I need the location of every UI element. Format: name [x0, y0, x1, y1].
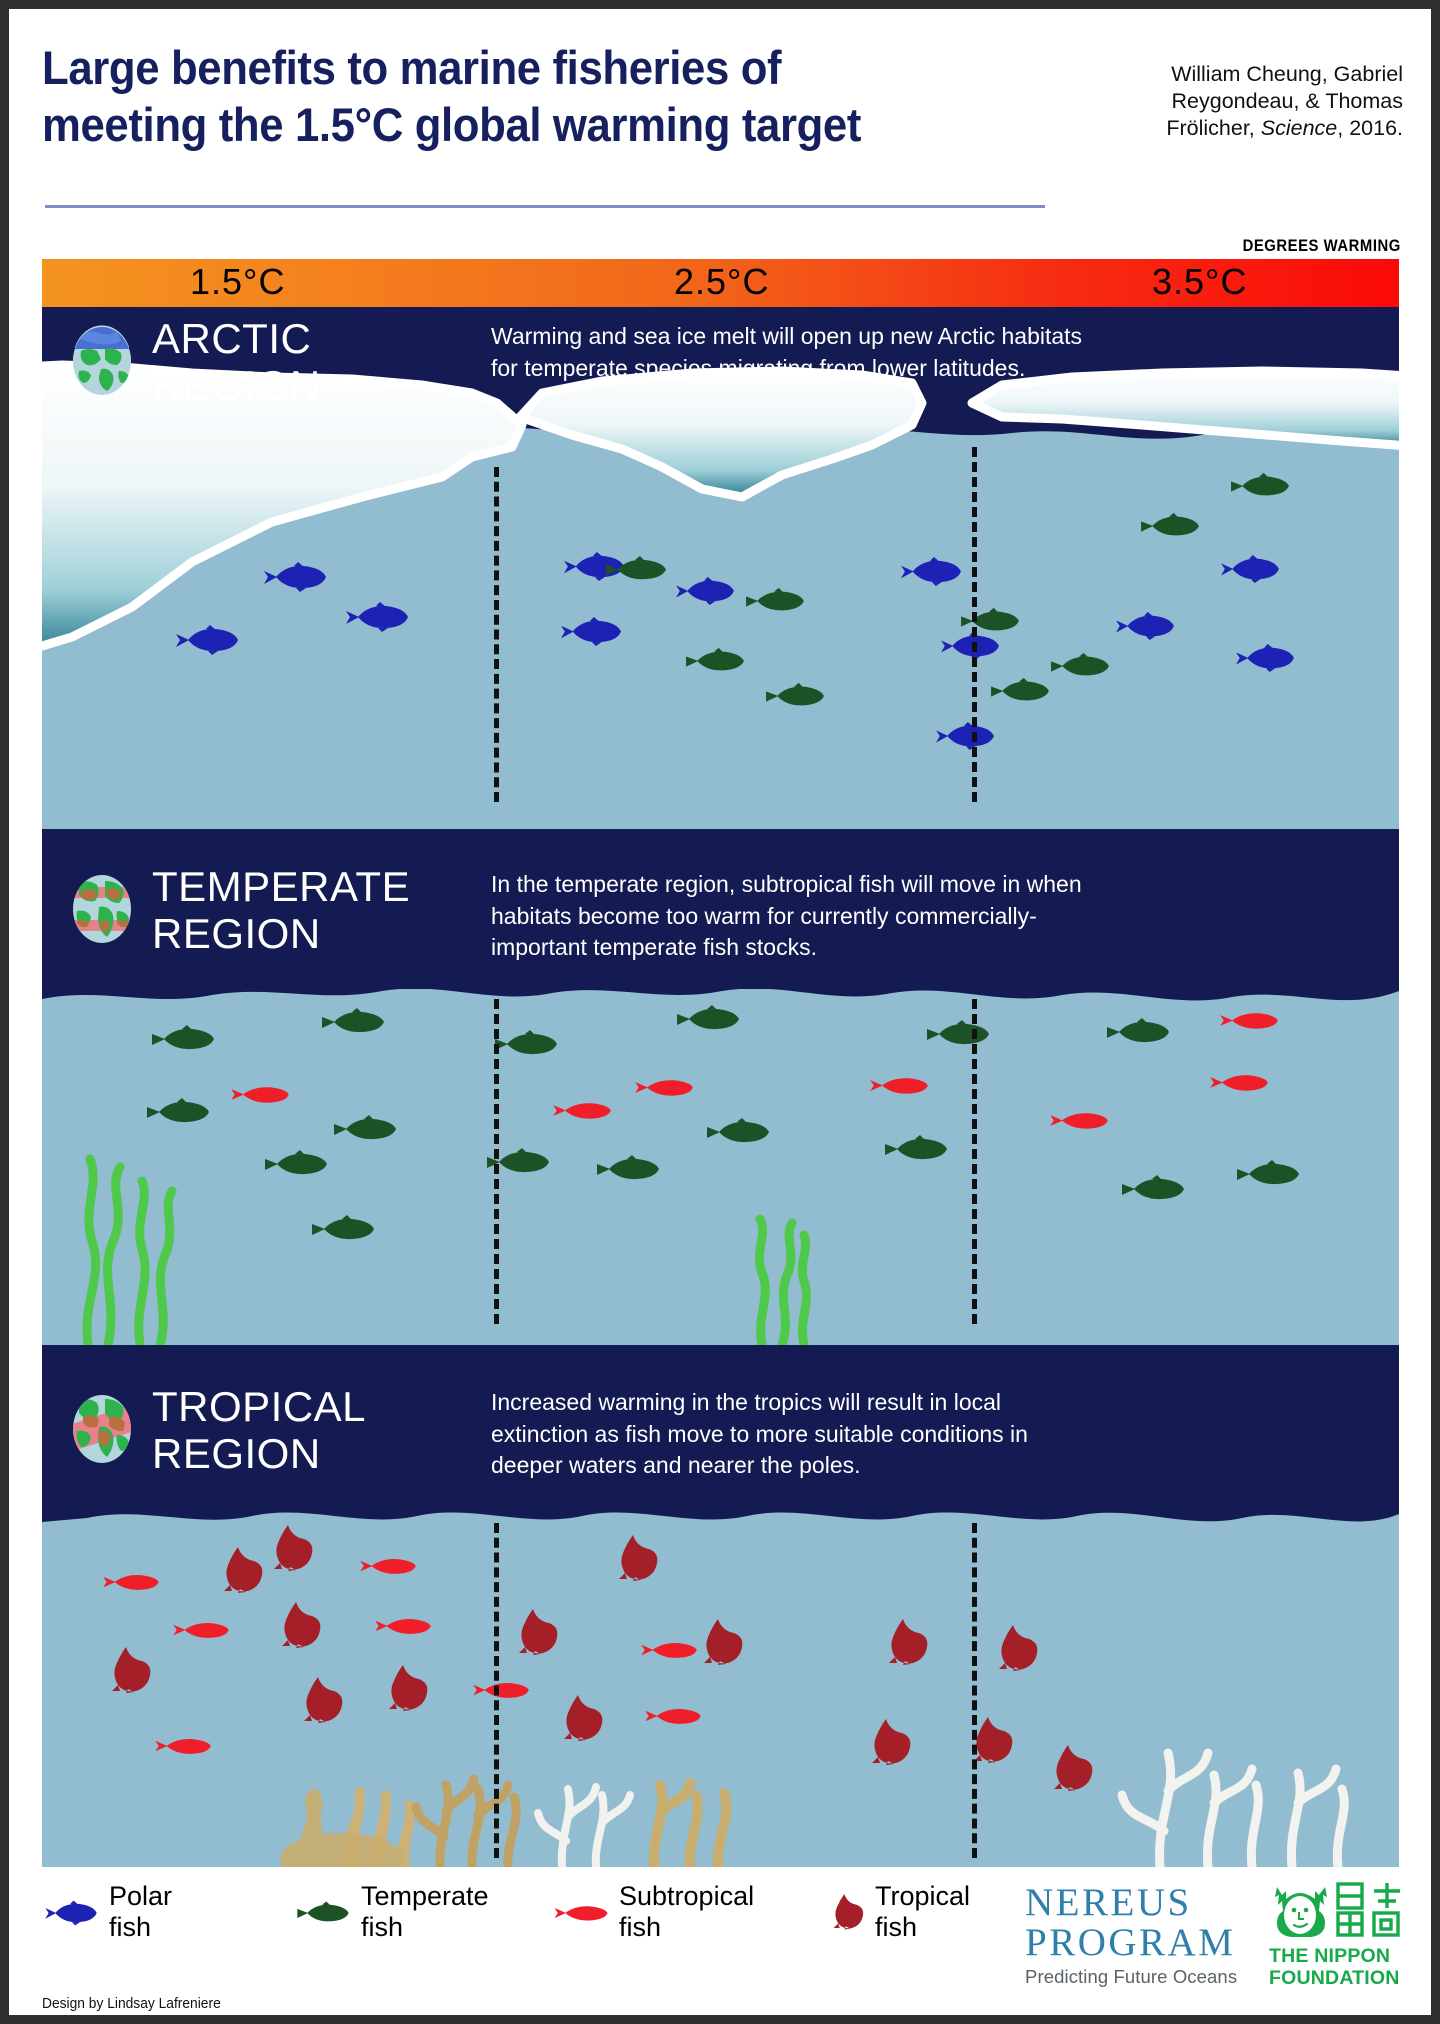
page-title: Large benefits to marine fisheries of me…: [42, 39, 907, 154]
temperate-fish-icon: [1102, 1017, 1174, 1047]
tropical-fish-icon: [280, 1600, 324, 1648]
temperate-fish-icon: [147, 1024, 219, 1054]
subtropical-fish-icon: [1047, 1107, 1111, 1134]
tropical-fish-icon: [222, 1545, 266, 1593]
tropical-divider-1: [494, 1523, 499, 1858]
subtropical-fish-icon: [170, 1617, 232, 1643]
legend-item-tropical: Tropical fish: [832, 1881, 970, 1944]
subtropical-fish-icon: [1207, 1069, 1271, 1096]
tropical-fish-icon: [617, 1533, 661, 1581]
section-temperate-region: TEMPERATE REGION In the temperate region…: [42, 829, 1399, 1345]
tropical-fish-icon: [110, 1645, 154, 1693]
tropical-fish-icon: [972, 1715, 1016, 1763]
nippon-foundation-text: THE NIPPON FOUNDATION: [1269, 1946, 1405, 1990]
subtropical-fish-icon: [470, 1677, 532, 1703]
subtropical-fish-icon: [638, 1637, 700, 1663]
nippon-foundation-logo[interactable]: THE NIPPON FOUNDATION: [1269, 1881, 1405, 1990]
temperate-fish-icon: [742, 587, 808, 615]
warming-gradient-bar: 1.5°C 2.5°C 3.5°C: [42, 259, 1399, 307]
author-citation: William Cheung, Gabriel Reygondeau, & Th…: [1083, 61, 1403, 142]
arctic-divider-1: [494, 467, 499, 802]
polar-fish-icon: [260, 562, 330, 592]
arctic-title-line-1: ARCTIC: [152, 315, 321, 362]
arctic-description: Warming and sea ice melt will open up ne…: [491, 321, 1091, 384]
polar-fish-icon: [937, 632, 1003, 660]
nippon-hands-face-icon: [1269, 1881, 1331, 1941]
temperate-fish-icon: [880, 1134, 952, 1164]
polar-fish-icon: [42, 1897, 100, 1929]
legend-label-subtropical: Subtropical fish: [619, 1881, 754, 1944]
temperate-fish-icon: [317, 1007, 389, 1037]
legend: Polar fish Temperate fish Subtropical fi…: [42, 1881, 1042, 1981]
subtropical-fish-icon: [152, 1733, 214, 1759]
subtropical-fish-icon: [228, 1081, 292, 1108]
arctic-title-line-2: REGION: [152, 362, 321, 409]
subtropical-fish-icon: [1217, 1007, 1281, 1034]
degree-tick-3: 3.5°C: [1152, 259, 1247, 307]
polar-fish-icon: [557, 617, 625, 646]
temperate-fish-icon: [987, 677, 1053, 705]
subtropical-fish-icon: [372, 1613, 434, 1639]
nippon-mark-icon: [1269, 1881, 1405, 1943]
polar-fish-icon: [932, 722, 998, 750]
temperate-fish-icon: [592, 1154, 664, 1184]
temperate-fish-icon: [329, 1114, 401, 1144]
subtropical-fish-icon: [550, 1097, 614, 1124]
title-line-1: Large benefits to marine fisheries of: [42, 39, 907, 96]
subtropical-fish-icon: [357, 1553, 419, 1579]
nereus-program-logo[interactable]: NEREUS PROGRAM Predicting Future Oceans: [1025, 1883, 1251, 1988]
legend-tropical-line-2: fish: [875, 1912, 970, 1943]
tropical-fish-icon: [387, 1663, 431, 1711]
temperate-fish-icon: [1232, 1159, 1304, 1189]
polar-fish-icon: [672, 577, 738, 605]
temperate-fish-icon: [307, 1214, 379, 1244]
legend-tropical-line-1: Tropical: [875, 1881, 970, 1912]
legend-label-polar: Polar fish: [109, 1881, 172, 1944]
temperate-region-title: TEMPERATE REGION: [152, 863, 410, 957]
subtropical-fish-icon: [642, 1703, 704, 1729]
legend-polar-line-1: Polar: [109, 1881, 172, 1912]
poster-header: Large benefits to marine fisheries of me…: [9, 9, 1431, 227]
temperate-title-line-2: REGION: [152, 910, 410, 957]
legend-subtropical-line-1: Subtropical: [619, 1881, 754, 1912]
temperate-fish-icon: [142, 1097, 214, 1127]
temperate-fish-icon: [294, 1897, 352, 1929]
temperate-fish-icon: [702, 1117, 774, 1147]
arctic-region-title: ARCTIC REGION: [152, 315, 321, 409]
legend-item-temperate: Temperate fish: [294, 1881, 489, 1944]
globe-temperate-icon: [71, 873, 133, 945]
temperate-title-line-1: TEMPERATE: [152, 863, 410, 910]
globe-arctic-icon: [71, 325, 133, 397]
tropical-title-line-2: REGION: [152, 1430, 366, 1477]
subtropical-fish-icon: [632, 1074, 696, 1101]
polar-fish-icon: [1112, 612, 1178, 640]
legend-subtropical-line-2: fish: [619, 1912, 754, 1943]
tropical-fish-icon: [1052, 1743, 1096, 1791]
design-credit: Design by Lindsay Lafreniere: [42, 1995, 221, 2012]
tropical-description: Increased warming in the tropics will re…: [491, 1387, 1091, 1482]
temperate-fish-icon: [672, 1004, 744, 1034]
arctic-divider-2: [972, 447, 977, 802]
subtropical-fish-icon: [100, 1569, 162, 1595]
nereus-line-2: PROGRAM: [1025, 1923, 1251, 1963]
temperate-fish-icon: [1227, 472, 1293, 500]
temperate-fish-icon: [762, 682, 828, 710]
temperate-fish-icon: [1137, 512, 1203, 540]
temperate-fish-icon: [260, 1149, 332, 1179]
legend-label-tropical: Tropical fish: [875, 1881, 970, 1944]
tropical-fish-icon: [302, 1675, 346, 1723]
temperate-divider-1: [494, 999, 499, 1324]
legend-polar-line-2: fish: [109, 1912, 172, 1943]
temperate-fish-icon: [922, 1019, 994, 1049]
degree-tick-1: 1.5°C: [190, 259, 285, 307]
nippon-line-1: THE NIPPON: [1269, 1946, 1405, 1968]
globe-tropical-icon: [71, 1393, 133, 1465]
tropical-divider-2: [972, 1523, 977, 1858]
temperate-description: In the temperate region, subtropical fis…: [491, 869, 1091, 964]
polar-fish-icon: [342, 602, 412, 632]
legend-temperate-line-1: Temperate: [361, 1881, 489, 1912]
degrees-warming-label: DEGREES WARMING: [1243, 237, 1401, 256]
temperate-divider-2: [972, 999, 977, 1324]
tropical-fish-icon: [887, 1617, 931, 1665]
infographic-poster: Large benefits to marine fisheries of me…: [0, 0, 1440, 2024]
tropical-fish-icon: [832, 1891, 866, 1931]
temperate-fish-icon: [1047, 652, 1113, 680]
temperate-fish-icon: [957, 607, 1023, 635]
legend-label-temperate: Temperate fish: [361, 1881, 489, 1944]
temperate-fish-icon: [682, 647, 748, 675]
temperate-fish-icon: [602, 555, 670, 584]
tropical-fish-icon: [997, 1623, 1041, 1671]
citation-year: , 2016.: [1337, 116, 1403, 140]
degree-tick-2: 2.5°C: [674, 259, 769, 307]
temperate-fish-icon: [490, 1029, 562, 1059]
title-divider-rule: [45, 205, 1045, 208]
polar-fish-icon: [1217, 555, 1283, 583]
polar-fish-icon: [172, 625, 242, 655]
nereus-tagline: Predicting Future Oceans: [1025, 1966, 1251, 1988]
subtropical-fish-icon: [552, 1897, 610, 1929]
nippon-kanji-icon: [1334, 1881, 1404, 1939]
section-tropical-region: TROPICAL REGION Increased warming in the…: [42, 1345, 1399, 1867]
legend-temperate-line-2: fish: [361, 1912, 489, 1943]
tropical-fish-icon: [702, 1617, 746, 1665]
section-arctic-region: ARCTIC REGION Warming and sea ice melt w…: [42, 307, 1399, 829]
tropical-fish-icon: [272, 1523, 316, 1571]
temperate-fish-icon: [482, 1147, 554, 1177]
polar-fish-icon: [1232, 644, 1298, 672]
temperate-fish-icon: [1117, 1174, 1189, 1204]
tropical-fish-icon: [870, 1717, 914, 1765]
title-line-2: meeting the 1.5°C global warming target: [42, 96, 907, 153]
subtropical-fish-icon: [867, 1072, 931, 1099]
logo-group: NEREUS PROGRAM Predicting Future Oceans: [1025, 1879, 1405, 2009]
citation-journal: Science: [1261, 116, 1338, 140]
polar-fish-icon: [897, 557, 965, 586]
legend-item-polar: Polar fish: [42, 1881, 172, 1944]
nereus-line-1: NEREUS: [1025, 1883, 1251, 1923]
tropical-fish-icon: [562, 1693, 606, 1741]
nippon-line-2: FOUNDATION: [1269, 1968, 1405, 1990]
tropical-title-line-1: TROPICAL: [152, 1383, 366, 1430]
tropical-region-title: TROPICAL REGION: [152, 1383, 366, 1477]
legend-item-subtropical: Subtropical fish: [552, 1881, 754, 1944]
tropical-fish-icon: [517, 1607, 561, 1655]
